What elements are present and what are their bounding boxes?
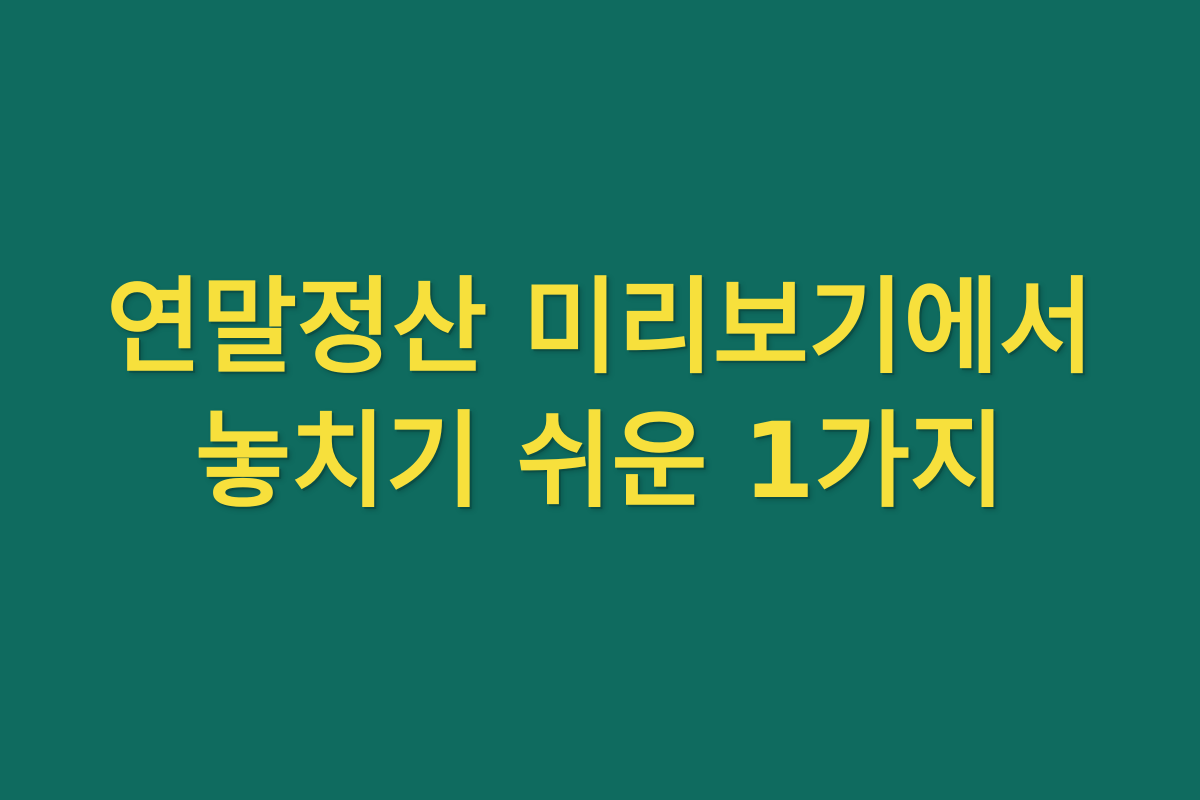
headline-line-1: 연말정산 미리보기에서 [40, 269, 1160, 385]
thumbnail-canvas: 연말정산 미리보기에서 놓치기 쉬운 1가지 [0, 0, 1200, 800]
headline-block: 연말정산 미리보기에서 놓치기 쉬운 1가지 [0, 269, 1200, 520]
headline-line-2: 놓치기 쉬운 1가지 [40, 403, 1160, 519]
